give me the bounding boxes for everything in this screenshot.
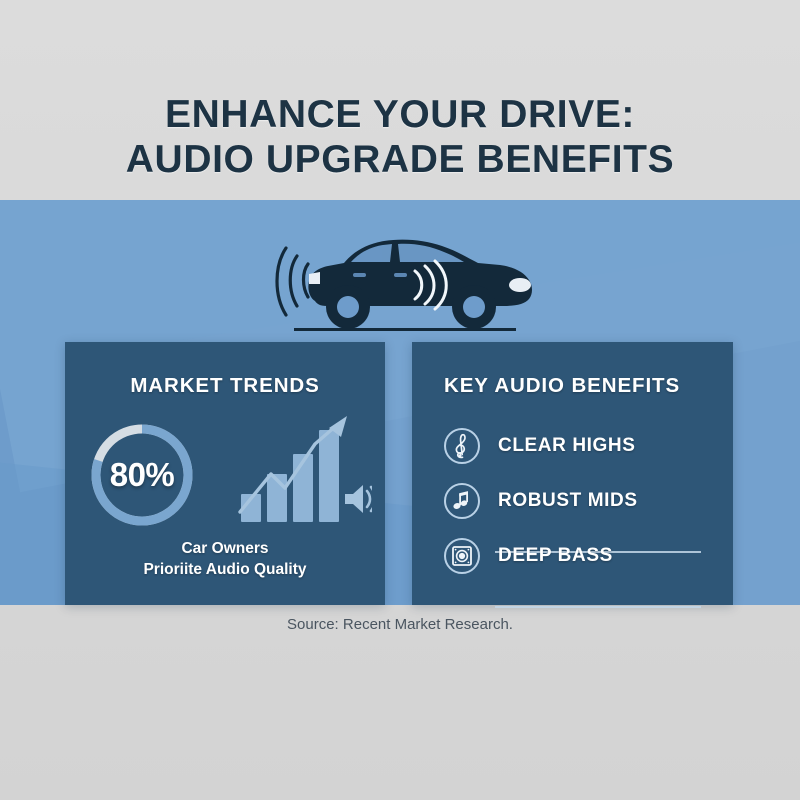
treble-clef-glyph [451,433,473,459]
music-notes-glyph [451,490,473,512]
panel-title-market-trends: MARKET TRENDS [65,374,385,398]
benefit-label: DEEP BASS [498,545,613,567]
title-line-2: AUDIO UPGRADE BENEFITS [0,137,800,182]
bar-chart-bars [241,430,339,522]
donut-value-label: 80% [87,420,197,530]
market-growth-graphic [237,412,372,527]
subwoofer-speaker-glyph [451,545,473,567]
page-title: ENHANCE YOUR DRIVE: AUDIO UPGRADE BENEFI… [0,92,800,182]
donut-caption-line-1: Car Owners [65,538,385,559]
infographic-canvas: ENHANCE YOUR DRIVE: AUDIO UPGRADE BENEFI… [0,0,800,800]
title-line-1: ENHANCE YOUR DRIVE: [0,92,800,137]
car-taillight [309,272,320,284]
car-illustration [252,228,558,340]
donut-caption: Car Owners Prioriite Audio Quality [65,538,385,580]
car-headlight [509,278,531,292]
treble-clef-icon [444,428,480,464]
benefit-divider [495,606,701,608]
music-notes-icon [444,483,480,519]
donut-caption-line-2: Prioriite Audio Quality [65,559,385,580]
source-note: Source: Recent Market Research. [0,616,800,633]
panel-market-trends: MARKET TRENDS 80% [65,342,385,605]
panel-key-audio-benefits: KEY AUDIO BENEFITS CLEAR HIGHS [412,342,733,605]
panel-title-key-audio-benefits: KEY AUDIO BENEFITS [412,374,680,398]
speaker-volume-icon [345,485,372,513]
benefit-list: CLEAR HIGHS ROBUST MIDS [412,418,733,583]
benefit-item-clear-highs[interactable]: CLEAR HIGHS [412,418,733,473]
bar-chart-icon [237,412,372,527]
benefit-item-robust-mids[interactable]: ROBUST MIDS [412,473,733,528]
benefit-item-deep-bass[interactable]: DEEP BASS [412,528,733,583]
ground-line [294,328,516,331]
car-side-silhouette-icon [252,228,558,340]
benefit-label: ROBUST MIDS [498,490,638,512]
sound-wave-icon [277,248,308,315]
donut-chart: 80% [87,420,197,530]
benefit-label: CLEAR HIGHS [498,435,636,457]
subwoofer-speaker-icon [444,538,480,574]
